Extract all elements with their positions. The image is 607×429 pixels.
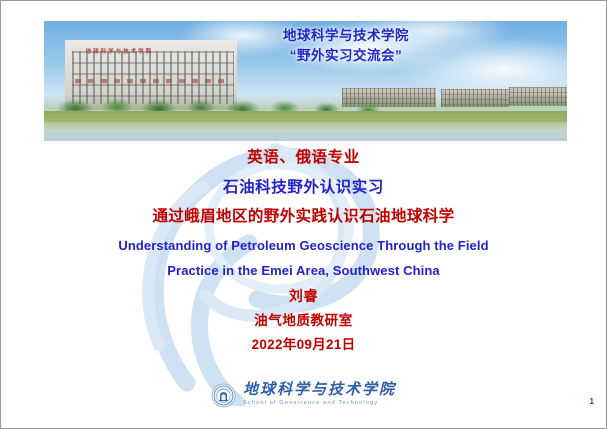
banner-pond-reflection xyxy=(44,122,567,141)
banner-title-line-1: 地球科学与技术学院 xyxy=(236,26,456,46)
banner-building-sign: 地球科学与技术学院 xyxy=(86,47,154,55)
campus-banner-image: 地球科学与技术学院 地球科学与技术学院 “野外实习交流会” xyxy=(44,21,567,141)
presenter-name: 刘睿 xyxy=(1,289,606,303)
school-name-cn: 地球科学与技术学院 xyxy=(243,383,396,399)
course-subtitle-cn: 通过峨眉地区的野外实践认识石油地球科学 xyxy=(1,209,606,225)
course-major-line: 英语、俄语专业 xyxy=(1,150,606,166)
course-name-line: 石油科技野外认识实习 xyxy=(1,180,606,196)
banner-title-line-2: “野外实习交流会” xyxy=(236,46,456,66)
university-seal-icon xyxy=(211,383,236,408)
slide-title-block: 英语、俄语专业 石油科技野外认识实习 通过峨眉地区的野外实践认识石油地球科学 U… xyxy=(1,145,606,352)
department-name: 油气地质教研室 xyxy=(1,314,606,328)
school-logo-text: 地球科学与技术学院 School of Geoscience and Techn… xyxy=(243,383,396,407)
school-logo: 地球科学与技术学院 School of Geoscience and Techn… xyxy=(1,383,606,408)
page-number: 1 xyxy=(590,397,594,406)
banner-title-overlay: 地球科学与技术学院 “野外实习交流会” xyxy=(236,26,456,65)
course-subtitle-en-2: Practice in the Emei Area, Southwest Chi… xyxy=(1,264,606,277)
presentation-date: 2022年09月21日 xyxy=(1,338,606,352)
course-subtitle-en-1: Understanding of Petroleum Geoscience Th… xyxy=(1,239,606,252)
banner-building-trim xyxy=(75,79,230,83)
school-name-en: School of Geoscience and Technology xyxy=(243,399,396,407)
presentation-slide: 地球科学与技术学院 地球科学与技术学院 “野外实习交流会” 英语、俄语专业 石油… xyxy=(0,0,607,429)
